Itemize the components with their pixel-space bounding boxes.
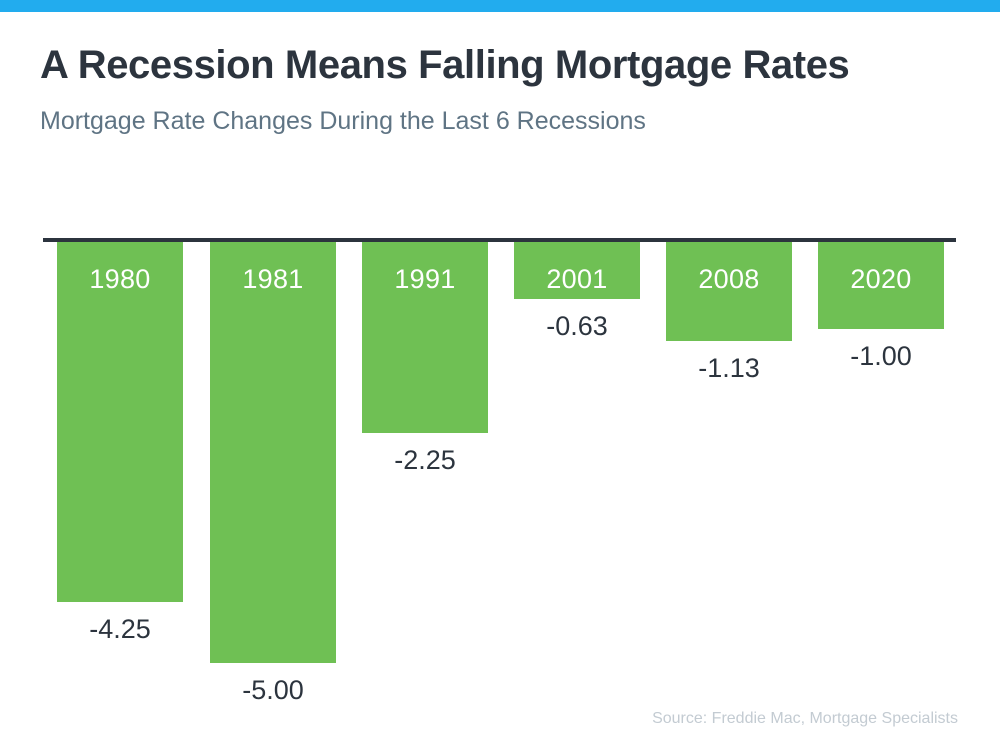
bar-value-label-2001: -0.63	[502, 311, 652, 342]
bar-value-label-1981: -5.00	[198, 675, 348, 706]
bar-value-label-1991: -2.25	[350, 445, 500, 476]
source-attribution: Source: Freddie Mac, Mortgage Specialist…	[652, 710, 958, 728]
bar-year-label-2008: 2008	[666, 264, 792, 295]
bar-year-label-1991: 1991	[362, 264, 488, 295]
bar-year-label-1980: 1980	[57, 264, 183, 295]
infographic-page: A Recession Means Falling Mortgage Rates…	[0, 0, 1000, 750]
bar-1980	[57, 242, 183, 602]
bar-value-label-2020: -1.00	[806, 341, 956, 372]
bar-1981	[210, 242, 336, 663]
bar-year-label-2020: 2020	[818, 264, 944, 295]
bar-value-label-2008: -1.13	[654, 353, 804, 384]
bar-chart: 1980-4.251981-5.001991-2.252001-0.632008…	[0, 0, 1000, 750]
bar-year-label-2001: 2001	[514, 264, 640, 295]
bar-value-label-1980: -4.25	[45, 614, 195, 645]
bar-year-label-1981: 1981	[210, 264, 336, 295]
